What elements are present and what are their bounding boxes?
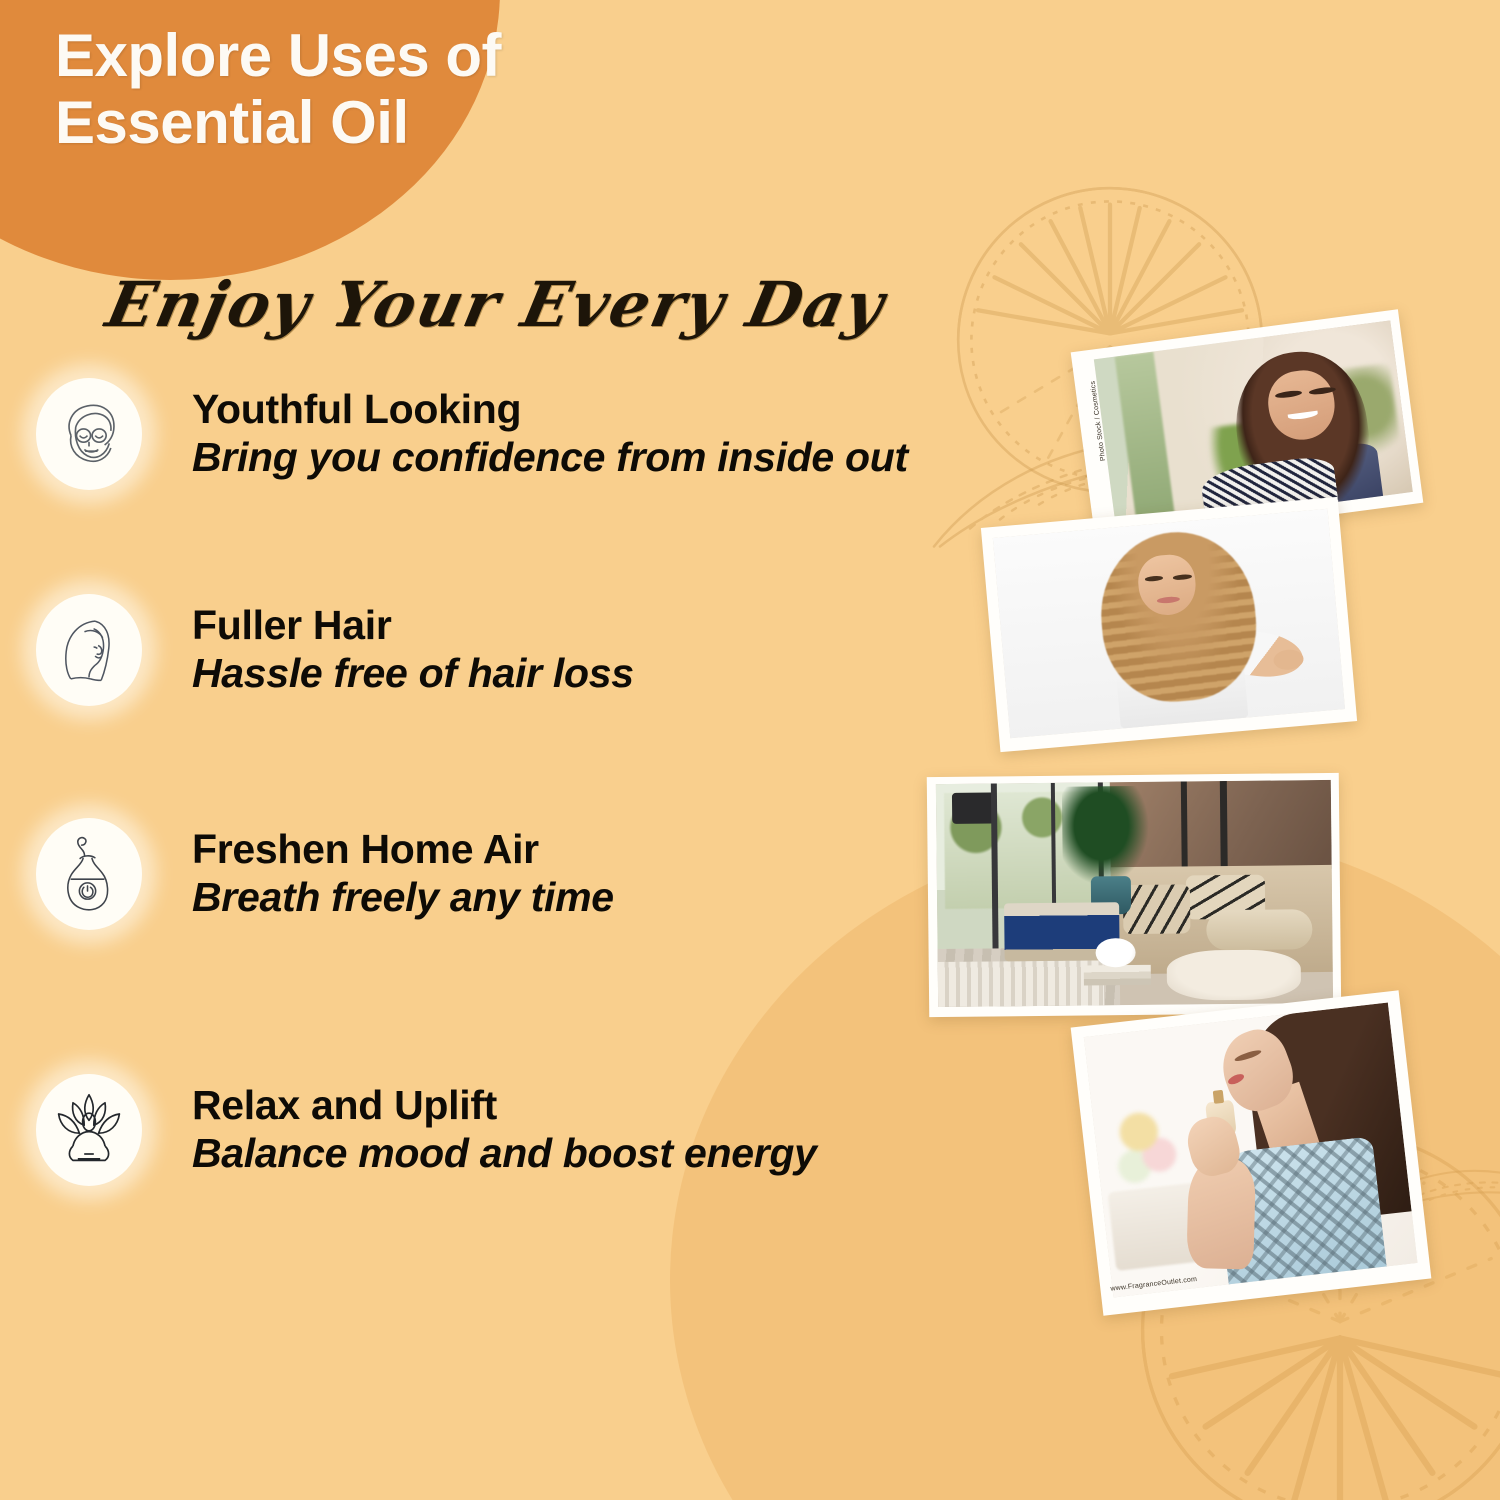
feature-item-relax-and-uplift: Relax and Uplift Balance mood and boost …: [36, 1074, 817, 1186]
photo-long-wavy-blonde-hair-image: [993, 509, 1345, 739]
facial-mask-woman-icon: [36, 378, 142, 490]
photo-boho-living-room: [927, 773, 1341, 1017]
photo-woman-spraying-fragrance-image: [1084, 1003, 1418, 1298]
feature-text: Fuller Hair Hassle free of hair loss: [162, 602, 634, 699]
page-title: Explore Uses of Essential Oil: [55, 22, 595, 156]
feature-title: Youthful Looking: [192, 386, 908, 434]
feature-item-freshen-home-air: Freshen Home Air Breath freely any time: [36, 818, 614, 930]
page-title-line2: Essential Oil: [55, 89, 595, 156]
feature-subtitle: Balance mood and boost energy: [192, 1129, 817, 1178]
feature-title: Freshen Home Air: [192, 826, 614, 874]
page-title-line1: Explore Uses of: [55, 22, 595, 89]
lotus-meditation-icon: [36, 1074, 142, 1186]
feature-subtitle: Hassle free of hair loss: [192, 649, 634, 698]
feature-title: Fuller Hair: [192, 602, 634, 650]
tagline: Enjoy Your Every Day: [100, 268, 892, 341]
long-hair-woman-profile-icon: [36, 594, 142, 706]
infographic-canvas: Explore Uses of Essential Oil Enjoy Your…: [0, 0, 1500, 1500]
photo-long-wavy-blonde-hair: [981, 497, 1357, 752]
feature-text: Relax and Uplift Balance mood and boost …: [162, 1082, 817, 1179]
feature-title: Relax and Uplift: [192, 1082, 817, 1130]
feature-subtitle: Bring you confidence from inside out: [192, 433, 908, 482]
photo-smiling-woman-image: [1094, 320, 1413, 531]
photo-woman-spraying-fragrance: www.FragranceOutlet.com: [1071, 990, 1432, 1315]
photo-boho-living-room-image: [936, 780, 1333, 1007]
feature-subtitle: Breath freely any time: [192, 873, 614, 922]
feature-item-fuller-hair: Fuller Hair Hassle free of hair loss: [36, 594, 634, 706]
feature-text: Youthful Looking Bring you confidence fr…: [162, 386, 908, 483]
feature-item-youthful-looking: Youthful Looking Bring you confidence fr…: [36, 378, 908, 490]
aroma-diffuser-icon: [36, 818, 142, 930]
feature-text: Freshen Home Air Breath freely any time: [162, 826, 614, 923]
